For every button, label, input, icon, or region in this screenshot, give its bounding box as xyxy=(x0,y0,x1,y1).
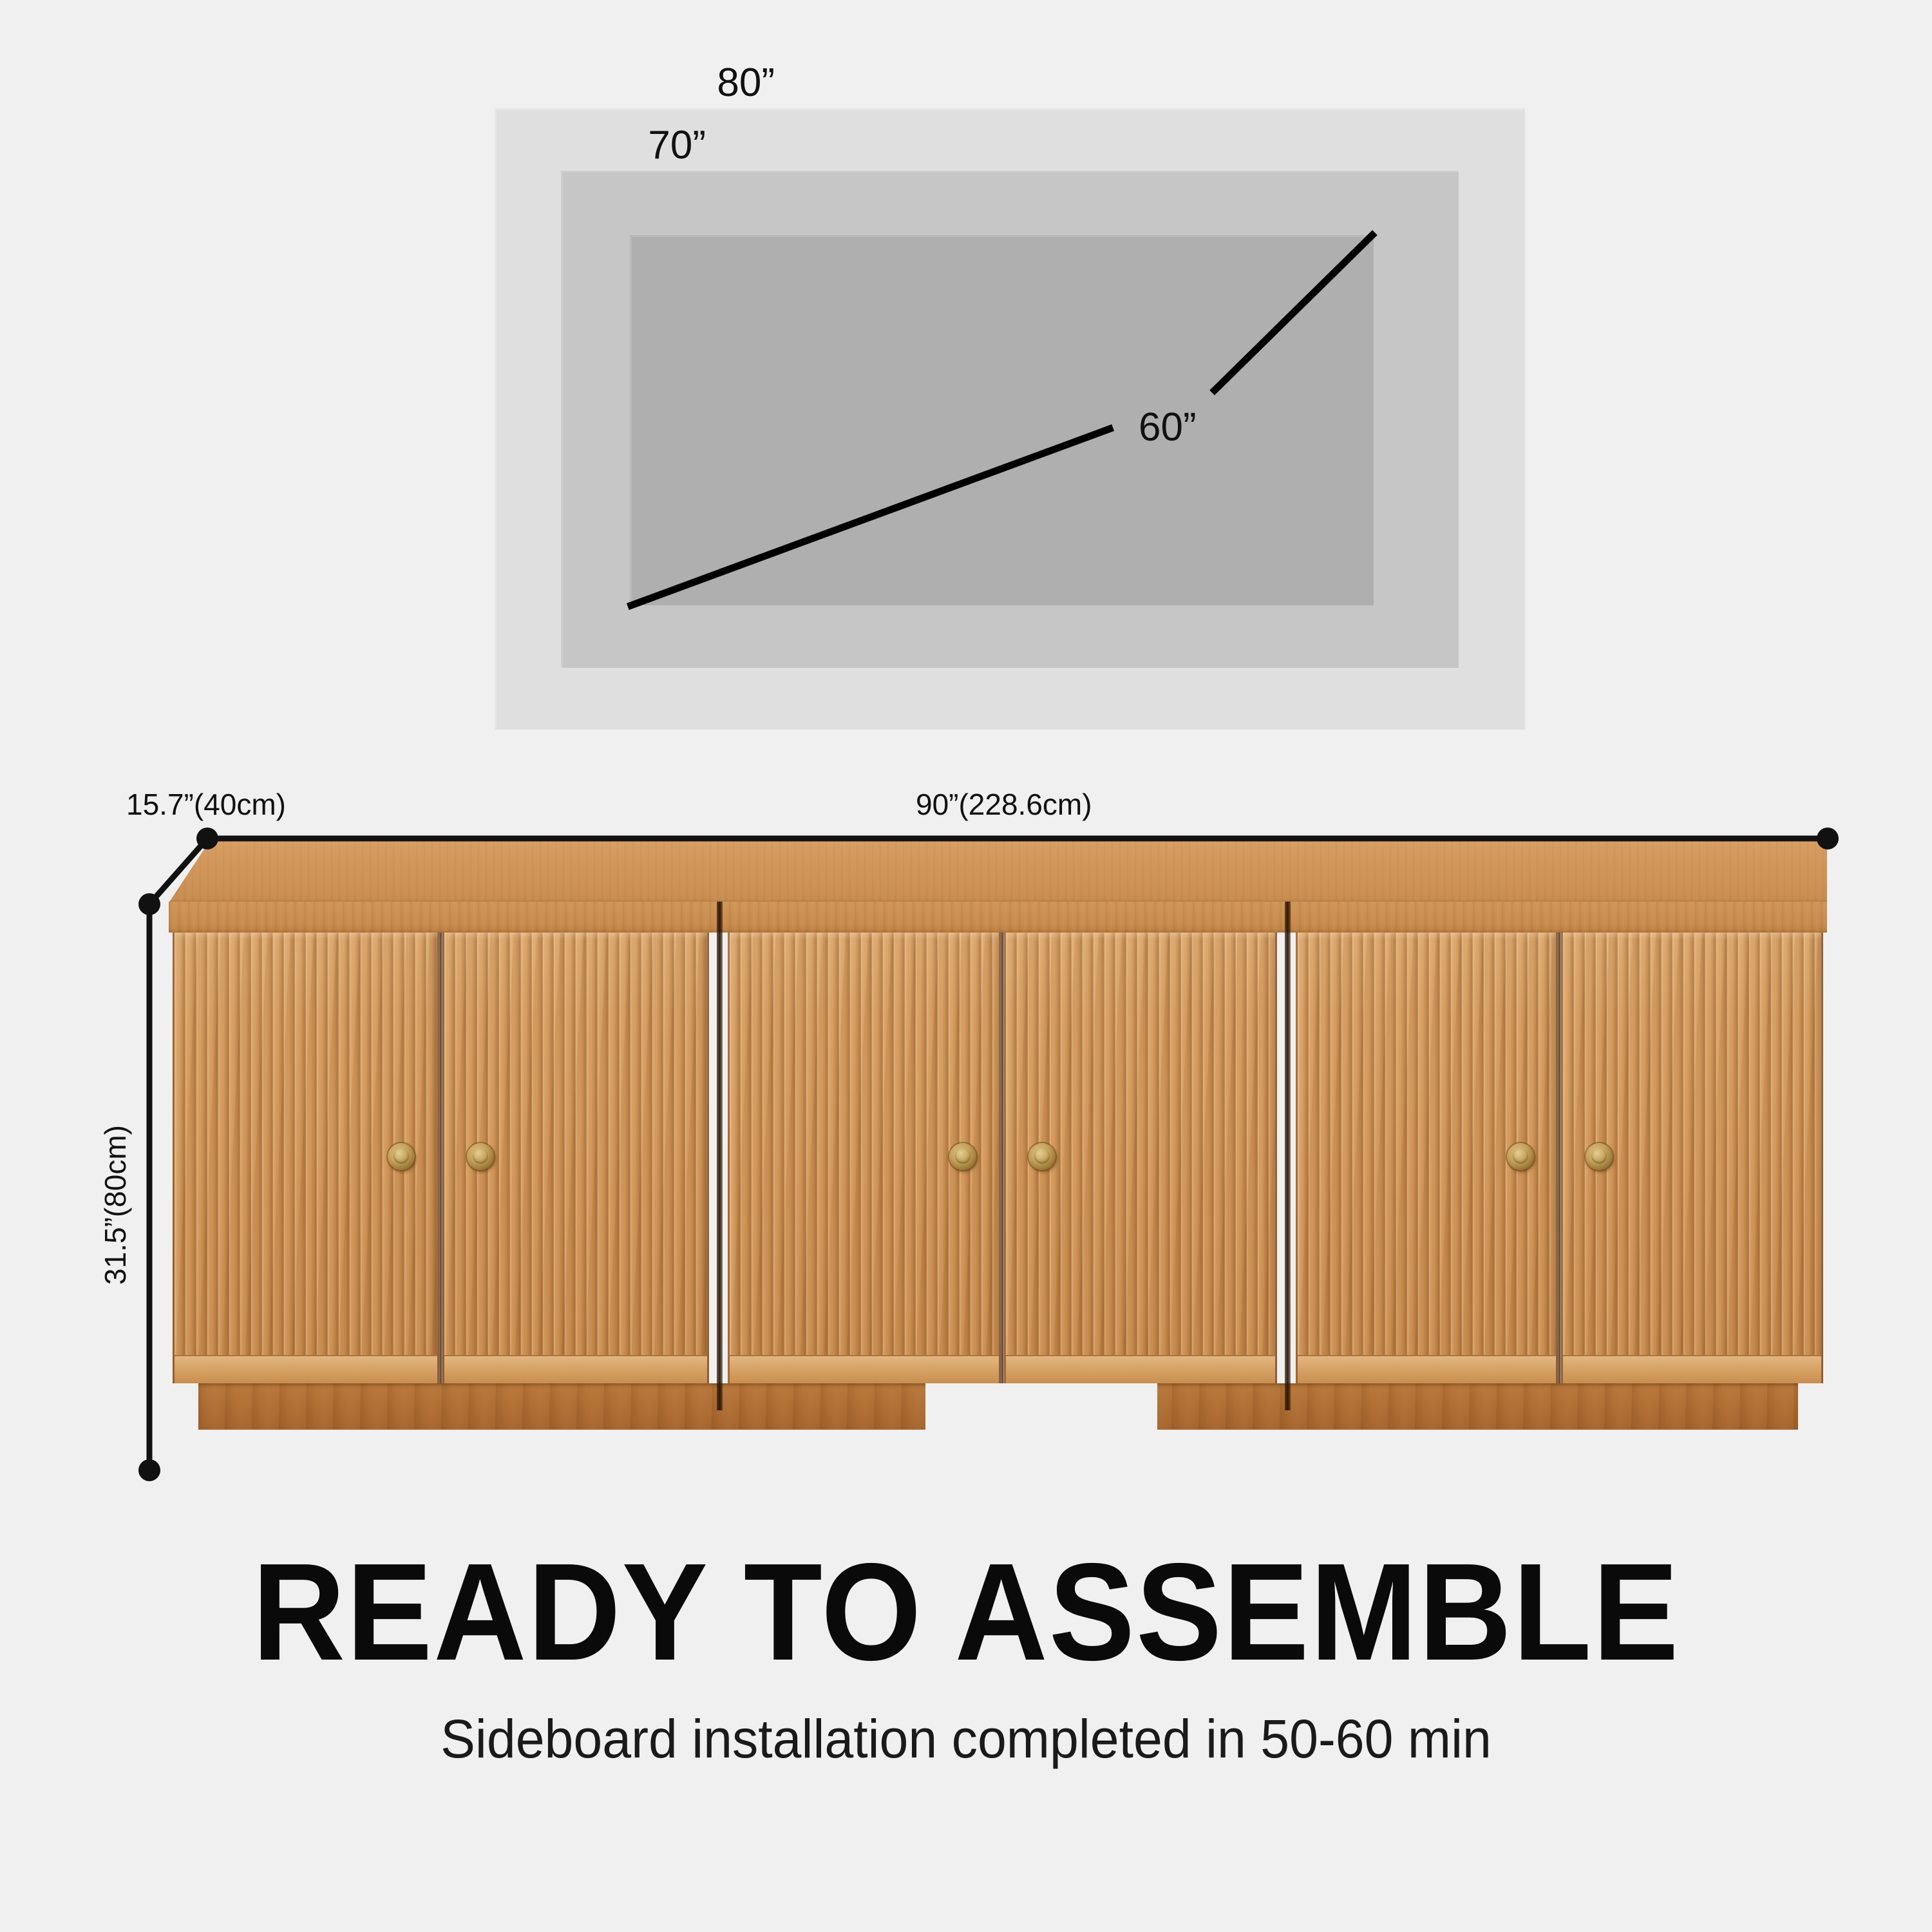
sideboard-cabinet xyxy=(169,902,1827,1430)
cabinet-knob-2[interactable] xyxy=(467,1143,494,1170)
infographic-canvas: 80” 70” 60” xyxy=(0,0,1932,1932)
door-seam-3-4 xyxy=(1001,933,1004,1383)
sideboard-product-illustration: 15.7”(40cm) 90”(228.6cm) 31.5”(80cm) xyxy=(0,0,1932,1546)
door-seam-1-2 xyxy=(439,933,442,1383)
cabinet-module-left xyxy=(169,902,713,1430)
page-title: READY TO ASSEMBLE xyxy=(68,1542,1864,1681)
cabinet-knob-6[interactable] xyxy=(1586,1143,1613,1170)
cabinet-plinth-recess xyxy=(925,1383,1157,1430)
page-subtitle: Sideboard installation completed in 50-6… xyxy=(39,1712,1893,1766)
cabinet-knob-1[interactable] xyxy=(388,1143,415,1170)
door-seam-5-6 xyxy=(1558,933,1561,1383)
height-dimension-label: 31.5”(80cm) xyxy=(98,1125,133,1285)
cabinet-knob-5[interactable] xyxy=(1507,1143,1534,1170)
cabinet-knob-3[interactable] xyxy=(949,1143,976,1170)
headline-block: READY TO ASSEMBLE Sideboard installation… xyxy=(0,1542,1932,1766)
module-gap-center-right xyxy=(1285,902,1291,1410)
cabinet-knob-4[interactable] xyxy=(1028,1143,1056,1170)
depth-dimension-label: 15.7”(40cm) xyxy=(126,787,286,822)
height-dimension-dot-end xyxy=(138,1459,160,1481)
module-gap-left-center xyxy=(717,902,723,1410)
depth-dimension-dot-start xyxy=(138,893,160,915)
width-dimension-label: 90”(228.6cm) xyxy=(916,787,1092,822)
cabinet-module-center xyxy=(724,902,1281,1430)
cabinet-top-surface xyxy=(169,838,1827,903)
cabinet-module-right xyxy=(1292,902,1827,1430)
